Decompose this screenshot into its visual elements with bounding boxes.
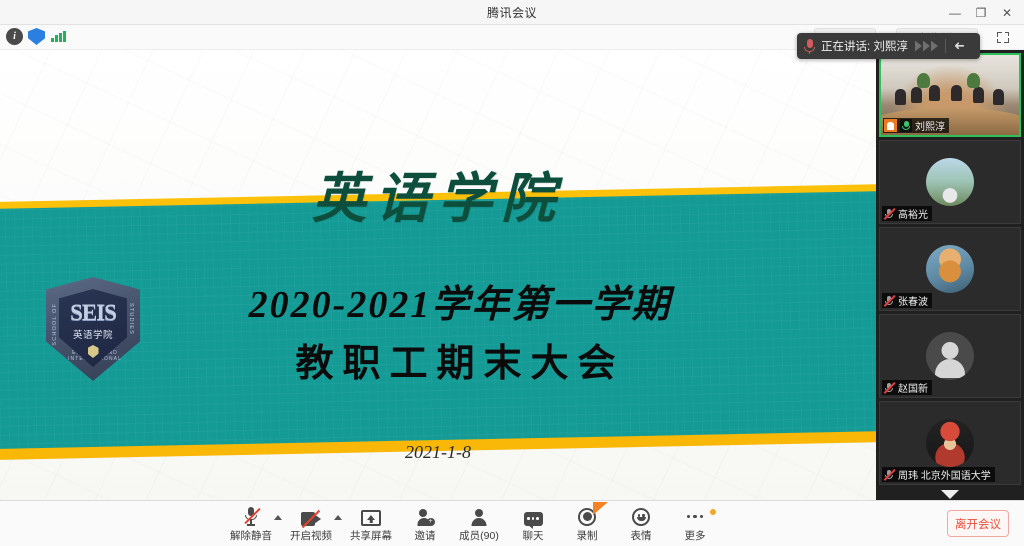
leave-meeting-button[interactable]: 离开会议 [947, 510, 1009, 537]
maximize-icon[interactable]: ❐ [968, 0, 994, 25]
chevron-down-icon[interactable] [941, 490, 959, 499]
participant-sidebar[interactable]: 刘熙淳 高裕光 张春波 赵国新 周玮 北京外国语大学 [876, 50, 1024, 500]
slide-subtitle-line1: 2020-2021学年第一学期 [150, 273, 770, 328]
more-button[interactable]: 更多 [668, 501, 722, 546]
emoji-button[interactable]: 表情 [614, 501, 668, 546]
mic-muted-icon [883, 468, 895, 481]
more-label: 更多 [685, 528, 706, 543]
close-icon[interactable]: ✕ [994, 0, 1020, 25]
logo-chinese-name: 英语学院 [73, 327, 113, 341]
mute-button[interactable]: 解除静音 [224, 501, 278, 546]
window-titlebar: 腾讯会议 — ❐ ✕ [0, 0, 1024, 25]
audio-wave-icon [915, 41, 938, 52]
slide-subtitle-line2: 教职工期末大会 [150, 332, 770, 387]
microphone-icon [803, 38, 816, 54]
mic-muted-icon [245, 506, 258, 526]
participant-name: 刘熙淳 [915, 118, 945, 133]
participants-icon [471, 506, 488, 526]
logo-ring-left: SCHOOL OF [52, 303, 58, 346]
participant-tile-0[interactable]: 刘熙淳 [879, 53, 1021, 137]
signal-icon[interactable] [50, 28, 67, 45]
participants-label: 成员(90) [459, 528, 499, 543]
app-title: 腾讯会议 [487, 4, 537, 21]
participant-nameplate: 张春波 [882, 293, 932, 308]
minimize-icon[interactable]: — [942, 0, 968, 25]
invite-person-icon: + [417, 506, 434, 526]
fullscreen-icon [997, 32, 1009, 43]
avatar [926, 419, 974, 467]
notification-dot-icon [710, 509, 716, 515]
shield-icon[interactable] [28, 28, 45, 45]
participant-tile-3[interactable]: 赵国新 [879, 314, 1021, 398]
mic-muted-icon [883, 294, 895, 307]
video-button[interactable]: 开启视频 [284, 501, 338, 546]
camera-off-icon [301, 506, 321, 526]
record-label: 录制 [577, 528, 598, 543]
emoji-label: 表情 [631, 528, 652, 543]
speaking-label: 正在讲话: 刘熙淳 [821, 38, 908, 54]
participants-button[interactable]: 成员(90) [452, 501, 506, 546]
back-arrow-icon[interactable]: ➜ [954, 38, 965, 54]
mute-label: 解除静音 [230, 528, 272, 543]
participant-nameplate: 周玮 北京外国语大学 [882, 467, 995, 482]
seis-logo: SCHOOL OF STUDIES ENGLISH AND INTERNATIO… [46, 277, 140, 381]
participant-tile-2[interactable]: 张春波 [879, 227, 1021, 311]
invite-button[interactable]: + 邀请 [398, 501, 452, 546]
record-icon [578, 506, 596, 526]
avatar [926, 158, 974, 206]
window-controls: — ❐ ✕ [942, 0, 1020, 25]
avatar [926, 245, 974, 293]
meeting-toolbar: 解除静音 开启视频 共享屏幕 + 邀请 成员(90) [0, 500, 1024, 546]
share-screen-button[interactable]: 共享屏幕 [344, 501, 398, 546]
presentation-slide: 英语学院 2020-2021学年第一学期 教职工期末大会 2021-1-8 SC… [0, 50, 876, 500]
slide-date: 2021-1-8 [0, 442, 876, 463]
new-feature-ribbon-icon [593, 502, 608, 515]
mic-muted-icon [883, 381, 895, 394]
participant-nameplate: 刘熙淳 [883, 118, 949, 133]
mic-on-icon [900, 119, 912, 132]
logo-emblem-icon [88, 345, 99, 358]
chat-bubble-icon [524, 506, 543, 526]
participant-tile-1[interactable]: 高裕光 [879, 140, 1021, 224]
emoji-smile-icon [632, 506, 650, 526]
video-label: 开启视频 [290, 528, 332, 543]
more-dots-icon [687, 506, 704, 526]
logo-ring-right: STUDIES [128, 303, 134, 335]
logo-acronym: SEIS [70, 301, 116, 324]
avatar [926, 332, 974, 380]
chat-button[interactable]: 聊天 [506, 501, 560, 546]
chat-label: 聊天 [523, 528, 544, 543]
participant-nameplate: 高裕光 [882, 206, 932, 221]
info-icon[interactable]: i [6, 28, 23, 45]
mic-muted-icon [883, 207, 895, 220]
record-button[interactable]: 录制 [560, 501, 614, 546]
share-screen-icon [361, 506, 381, 526]
fullscreen-button[interactable] [992, 28, 1014, 47]
speaking-indicator: 正在讲话: 刘熙淳 ➜ [797, 33, 980, 59]
participant-tile-4[interactable]: 周玮 北京外国语大学 [879, 401, 1021, 485]
divider [945, 39, 946, 53]
participant-name: 高裕光 [898, 206, 928, 221]
participant-nameplate: 赵国新 [882, 380, 932, 395]
slide-heading: 英语学院 [0, 154, 876, 233]
participant-name: 周玮 北京外国语大学 [898, 467, 991, 482]
invite-label: 邀请 [415, 528, 436, 543]
host-badge-icon [884, 119, 897, 132]
share-screen-label: 共享屏幕 [350, 528, 392, 543]
participant-name: 赵国新 [898, 380, 928, 395]
participant-name: 张春波 [898, 293, 928, 308]
shared-screen-stage[interactable]: 英语学院 2020-2021学年第一学期 教职工期末大会 2021-1-8 SC… [0, 50, 876, 500]
tray-icons: i [6, 28, 67, 45]
